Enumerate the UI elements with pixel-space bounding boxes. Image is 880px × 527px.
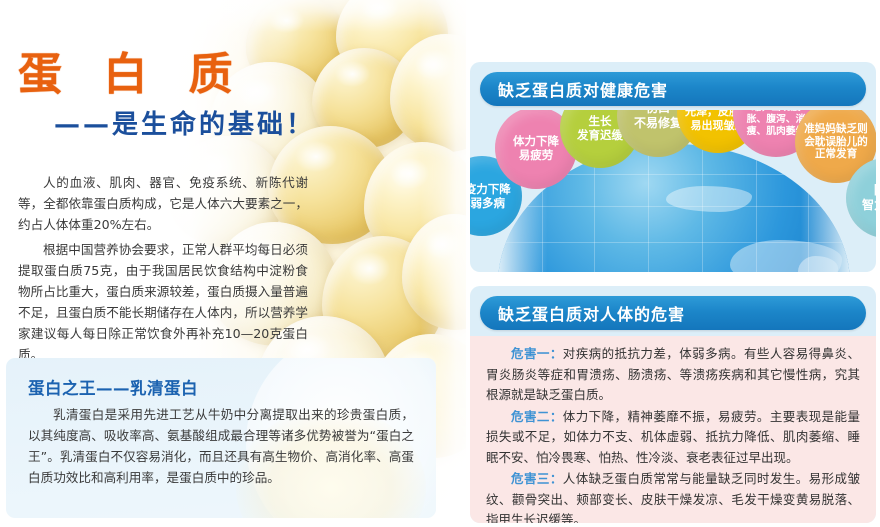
right-column: 缺乏蛋白质对健康危害: [466, 0, 880, 527]
whey-card-title: 蛋白之王——乳清蛋白: [28, 375, 436, 399]
whey-card-body: 乳清蛋白是采用先进工艺从牛奶中分离提取出来的珍贵蛋白质，以其纯度高、吸收率高、氨…: [28, 404, 414, 488]
intro-paragraph: 人的血液、肌肉、器官、免疫系统、新陈代谢等，全都依靠蛋白质构成，它是人体六大要素…: [18, 172, 308, 235]
panel-health-header: 缺乏蛋白质对健康危害: [480, 72, 866, 106]
harm-item-lead: 危害三：: [511, 471, 563, 486]
poster-page: 蛋 白 质 ——是生命的基础！ 人的血液、肌肉、器官、免疫系统、新陈代谢等，全都…: [0, 0, 880, 527]
panel-health-header-label: 缺乏蛋白质对健康危害: [498, 77, 668, 101]
bubble-label: 免疫力下降 体弱多病: [470, 182, 511, 210]
bubble-label: 降低 智力水平: [862, 183, 876, 212]
bubble-label: 伤口 不易修复: [634, 110, 682, 131]
harm-list: 危害一：对疾病的抵抗力差，体弱多病。有些人容易得鼻炎、胃炎肠炎等症和胃溃疡、肠溃…: [470, 336, 876, 523]
panel-body-harm: 缺乏蛋白质对人体的危害 危害一：对疾病的抵抗力差，体弱多病。有些人容易得鼻炎、胃…: [470, 286, 876, 523]
bubble-label: 体力下降 易疲劳: [513, 134, 559, 162]
intro-paragraph: 根据中国营养协会要求，正常人群平均每日必须提取蛋白质75克，由于我国居民饮食结构…: [18, 239, 308, 365]
panel-body-header: 缺乏蛋白质对人体的危害: [480, 296, 866, 330]
headline-block: 蛋 白 质 ——是生命的基础！: [18, 52, 315, 141]
harm-item: 危害一：对疾病的抵抗力差，体弱多病。有些人容易得鼻炎、胃炎肠炎等症和胃溃疡、肠溃…: [486, 344, 860, 406]
page-subtitle: ——是生命的基础！: [54, 104, 315, 141]
left-column: 蛋 白 质 ——是生命的基础！ 人的血液、肌肉、器官、免疫系统、新陈代谢等，全都…: [0, 0, 466, 527]
panel-body-header-label: 缺乏蛋白质对人体的危害: [498, 301, 685, 325]
harm-item-lead: 危害二：: [511, 409, 563, 424]
bubble-label: 准妈妈缺乏则 会耽误胎儿的 正常发育: [804, 123, 868, 162]
harm-item: 危害三：人体缺乏蛋白质常常与能量缺乏同时发生。易形成皱纹、颧骨突出、颊部变长、皮…: [486, 469, 860, 523]
panel-health-harm: 缺乏蛋白质对健康危害: [470, 62, 876, 272]
page-title: 蛋 白 质: [18, 52, 315, 98]
bubble-diagram: 免疫力下降 体弱多病体力下降 易疲劳生长 发育迟缓伤口 不易修复皮肤、头发无 光…: [470, 110, 876, 272]
whey-protein-card: 蛋白之王——乳清蛋白 乳清蛋白是采用先进工艺从牛奶中分离提取出来的珍贵蛋白质，以…: [6, 358, 436, 518]
harm-item: 危害二：体力下降，精神萎靡不振，易疲劳。主要表现是能量损失或不足，如体力不支、机…: [486, 407, 860, 469]
harm-item-lead: 危害一：: [511, 346, 563, 361]
intro-body: 人的血液、肌肉、器官、免疫系统、新陈代谢等，全都依靠蛋白质构成，它是人体六大要素…: [18, 172, 308, 369]
